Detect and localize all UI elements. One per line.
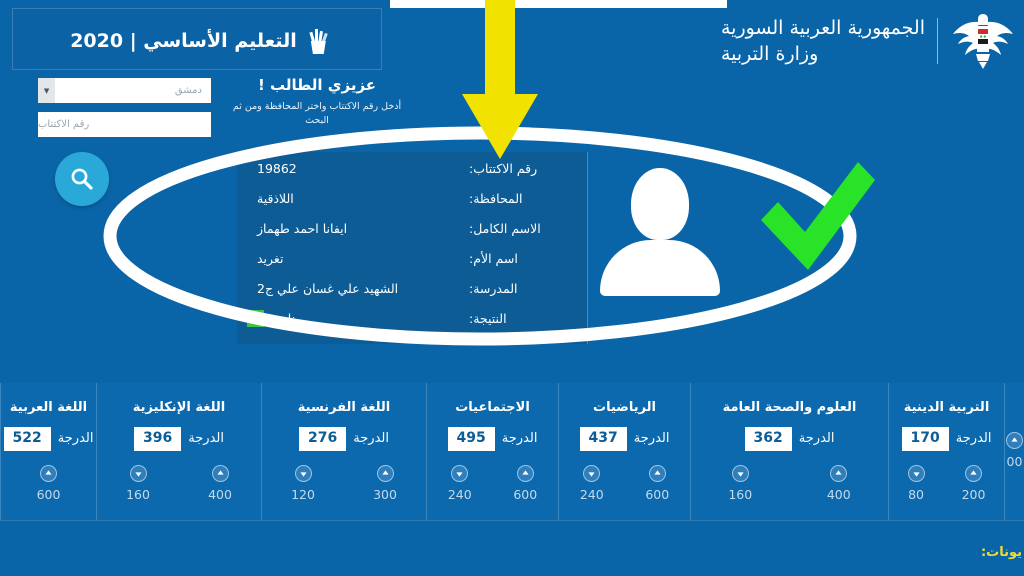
circle-arrow-down-icon (732, 465, 749, 482)
table-row: الاسم الكامل: ايفانا احمد طهماز (247, 213, 577, 243)
table-row: رقم الاكتتاب: 19862 (247, 153, 577, 183)
subject-grade-label: الدرجة (353, 431, 389, 446)
subject-name: التربية الدينية (904, 400, 990, 415)
ministry-line-2: وزارة التربية (721, 43, 818, 65)
subject-stat: 00 (1006, 432, 1023, 469)
subject-grade-label: الدرجة (799, 431, 835, 446)
row-value: ايفانا احمد طهماز (247, 221, 469, 236)
bottom-note: يونات: (981, 545, 1022, 560)
greeting-title: عزيزي الطالب ! (222, 76, 412, 94)
subject-stat-value: 240 (580, 487, 604, 502)
header-title-box: التعليم الأساسي | 2020 (12, 8, 382, 70)
site-header: التعليم الأساسي | 2020 (0, 8, 1024, 78)
subject-stat: 240 (448, 465, 472, 502)
pencil-cup-icon (306, 28, 330, 54)
circle-arrow-up-icon (517, 465, 534, 482)
circle-arrow-down-icon (295, 465, 312, 482)
subject-scores-strip: اللغة العربيةالدرجة522600اللغة الإنكليزي… (0, 383, 1024, 520)
row-label: الاسم الكامل: (469, 221, 577, 236)
governorate-select-value: دمشق (55, 85, 211, 96)
seat-number-placeholder: رقم الاكتتاب (38, 119, 99, 130)
subject-grade-label: الدرجة (956, 431, 992, 446)
subject-stat-value: 400 (827, 487, 851, 502)
subject-stat-value: 600 (513, 487, 537, 502)
subject-stat: 600 (645, 465, 669, 502)
circle-arrow-up-icon (830, 465, 847, 482)
subject-stat-value: 200 (962, 487, 986, 502)
subject-grade-value: 362 (745, 427, 792, 451)
subject-stat: 200 (962, 465, 986, 502)
row-value: اللاذقية (247, 191, 469, 206)
result-status-text: ناجح (272, 311, 295, 326)
subject-grade-row: الدرجة437 (580, 427, 670, 451)
subject-grade-label: الدرجة (58, 431, 94, 446)
seat-number-input[interactable]: رقم الاكتتاب (38, 112, 211, 137)
subject-stats: 300120 (262, 465, 426, 502)
green-check-icon (247, 310, 264, 327)
subject-name: اللغة العربية (10, 400, 87, 415)
greeting-subtitle: أدخل رقم الاكتتاب واختر المحافظة ومن ثم … (222, 100, 412, 129)
subject-grade-value: 276 (299, 427, 346, 451)
subject-stat: 400 (827, 465, 851, 502)
subject-stat: 600 (37, 465, 61, 502)
chevron-down-icon[interactable]: ▼ (38, 78, 55, 103)
circle-arrow-up-icon (212, 465, 229, 482)
subject-stat: 120 (291, 465, 315, 502)
page-title-text: التعليم الأساسي | 2020 (70, 30, 297, 52)
subject-stat-value: 160 (126, 487, 150, 502)
row-value-result: ناجح (247, 310, 469, 327)
subject-stat-value: 600 (645, 487, 669, 502)
subject-card: الرياضياتالدرجة437600240 (558, 383, 690, 520)
table-row: المدرسة: الشهيد علي غسان علي ج2 (247, 273, 577, 303)
subject-stats: 600240 (559, 465, 690, 502)
subject-card: اللغة الفرنسيةالدرجة276300120 (261, 383, 426, 520)
subject-stat: 160 (728, 465, 752, 502)
subject-stats: 600240 (427, 465, 558, 502)
subject-name: العلوم والصحة العامة (723, 400, 857, 415)
circle-arrow-down-icon (451, 465, 468, 482)
circle-arrow-up-icon (377, 465, 394, 482)
user-avatar-icon (612, 168, 708, 296)
subject-stat: 240 (580, 465, 604, 502)
subject-grade-value: 495 (448, 427, 495, 451)
results-page: التعليم الأساسي | 2020 (0, 0, 1024, 576)
page-title: التعليم الأساسي | 2020 (25, 21, 375, 61)
subject-stat-value: 80 (908, 487, 924, 502)
subject-stat-value: 600 (37, 487, 61, 502)
table-row: النتيجة: ناجح (247, 303, 577, 333)
subject-card: اللغة العربيةالدرجة522600 (0, 383, 96, 520)
subject-grade-row: الدرجة522 (4, 427, 94, 451)
row-label: النتيجة: (469, 311, 577, 326)
student-info-rows: رقم الاكتتاب: 19862 المحافظة: اللاذقية ا… (247, 153, 577, 333)
subject-stat: 600 (513, 465, 537, 502)
subject-grade-value: 437 (580, 427, 627, 451)
subject-card: الاجتماعياتالدرجة495600240 (426, 383, 558, 520)
subject-stat-value: 240 (448, 487, 472, 502)
subject-name: الاجتماعيات (455, 400, 530, 415)
search-button[interactable] (55, 152, 109, 206)
subject-grade-label: الدرجة (634, 431, 670, 446)
subject-grade-row: الدرجة362 (745, 427, 835, 451)
row-value: 19862 (247, 161, 469, 176)
circle-arrow-up-icon (649, 465, 666, 482)
subject-grade-row: الدرجة495 (448, 427, 538, 451)
subject-grade-row: الدرجة396 (134, 427, 224, 451)
subject-stat: 160 (126, 465, 150, 502)
top-edge-left-fill (0, 0, 390, 8)
subject-grade-row: الدرجة170 (902, 427, 992, 451)
row-value: الشهيد علي غسان علي ج2 (247, 281, 469, 296)
ministry-name: الجمهورية العربية السورية وزارة التربية (717, 17, 925, 66)
subject-name: اللغة الإنكليزية (133, 400, 225, 415)
subject-stats: 20080 (889, 465, 1004, 502)
subject-card: اللغة الإنكليزيةالدرجة396400160 (96, 383, 261, 520)
subject-stat: 80 (908, 465, 925, 502)
table-row: المحافظة: اللاذقية (247, 183, 577, 213)
search-icon (69, 166, 95, 192)
subject-stats: 400160 (691, 465, 888, 502)
photo-panel-divider (587, 152, 588, 344)
row-label: المحافظة: (469, 191, 577, 206)
circle-arrow-up-icon (1006, 432, 1023, 449)
page-top-edge (0, 0, 1024, 8)
subject-stat-value: 400 (208, 487, 232, 502)
row-label: رقم الاكتتاب: (469, 161, 577, 176)
circle-arrow-down-icon (583, 465, 600, 482)
table-row: اسم الأم: تغريد (247, 243, 577, 273)
top-edge-right-fill (727, 0, 1024, 8)
row-label: المدرسة: (469, 281, 577, 296)
ministry-branding: الجمهورية العربية السورية وزارة التربية (717, 10, 1016, 72)
subject-grade-row (1004, 412, 1024, 418)
circle-arrow-down-icon (908, 465, 925, 482)
subject-grade-value: 522 (4, 427, 51, 451)
subject-stats: 00 (1005, 432, 1024, 469)
row-label: اسم الأم: (469, 251, 577, 266)
subject-stat-value: 120 (291, 487, 315, 502)
subject-stat: 300 (373, 465, 397, 502)
bottom-section-divider (0, 520, 1024, 521)
subject-grade-label: الدرجة (188, 431, 224, 446)
row-value: تغريد (247, 251, 469, 266)
subject-card: 00 (1004, 383, 1024, 520)
circle-arrow-up-icon (965, 465, 982, 482)
subject-grade-label: الدرجة (502, 431, 538, 446)
circle-arrow-up-icon (40, 465, 57, 482)
subject-name: الرياضيات (593, 400, 656, 415)
subject-stats: 600 (1, 465, 96, 502)
subject-stats: 400160 (97, 465, 261, 502)
header-divider (937, 18, 938, 64)
subject-card: العلوم والصحة العامةالدرجة362400160 (690, 383, 888, 520)
subject-grade-value: 396 (134, 427, 181, 451)
subject-grade-value: 170 (902, 427, 949, 451)
student-greeting: عزيزي الطالب ! أدخل رقم الاكتتاب واختر ا… (222, 76, 412, 129)
governorate-select[interactable]: دمشق ▼ (38, 78, 211, 103)
subject-grade-row: الدرجة276 (299, 427, 389, 451)
subject-stat: 400 (208, 465, 232, 502)
subject-stat-value: 160 (728, 487, 752, 502)
subject-stat-value: 300 (373, 487, 397, 502)
green-checkmark-icon (758, 158, 878, 276)
subject-card: التربية الدينيةالدرجة17020080 (888, 383, 1004, 520)
syrian-eagle-emblem-icon (950, 12, 1016, 70)
circle-arrow-down-icon (130, 465, 147, 482)
subject-name: اللغة الفرنسية (298, 400, 390, 415)
subject-stat-value: 00 (1007, 454, 1023, 469)
ministry-line-1: الجمهورية العربية السورية (721, 17, 925, 39)
